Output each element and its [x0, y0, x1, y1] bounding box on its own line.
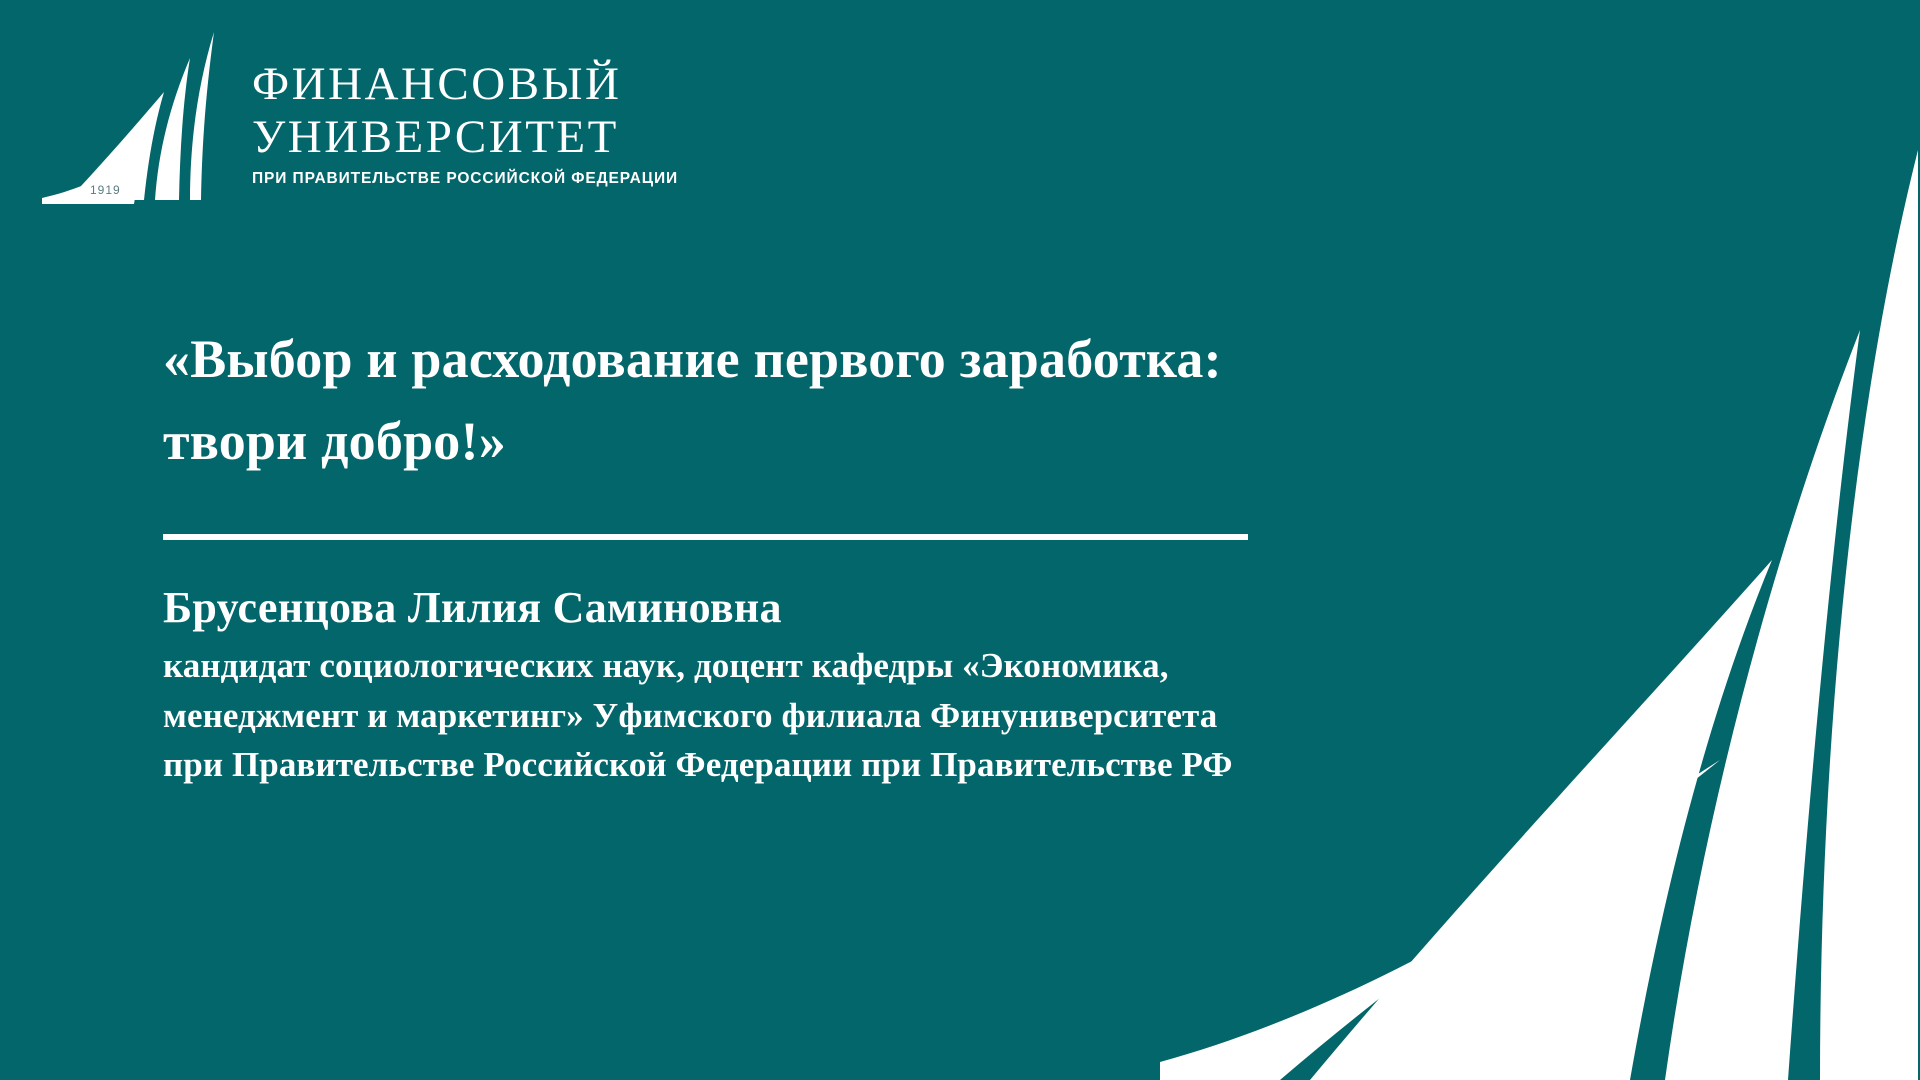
author-affiliation-line-2: менеджмент и маркетинг» Уфимского филиал… [163, 691, 1683, 741]
title-slide: 1919 ФИНАНСОВЫЙ УНИВЕРСИТЕТ ПРИ ПРАВИТЕЛ… [0, 0, 1920, 1080]
logo-sail-emblem-icon: 1919 [38, 22, 238, 212]
author-affiliation: кандидат социологических наук, доцент ка… [163, 641, 1683, 790]
slide-title: «Выбор и расходование первого заработка:… [163, 318, 1683, 482]
author-affiliation-line-1: кандидат социологических наук, доцент ка… [163, 641, 1683, 691]
title-divider-rule [163, 534, 1248, 540]
logo-tagline: ПРИ ПРАВИТЕЛЬСТВЕ РОССИЙСКОЙ ФЕДЕРАЦИИ [252, 170, 678, 188]
author-affiliation-line-3: при Правительстве Российской Федерации п… [163, 740, 1683, 790]
logo-name-line-1: ФИНАНСОВЫЙ [252, 58, 678, 111]
slide-title-line-2: твори добро!» [163, 400, 1683, 482]
author-name: Брусенцова Лилия Саминовна [163, 582, 1683, 635]
slide-content: «Выбор и расходование первого заработка:… [163, 318, 1683, 790]
university-logo: 1919 ФИНАНСОВЫЙ УНИВЕРСИТЕТ ПРИ ПРАВИТЕЛ… [38, 22, 658, 222]
slide-title-line-1: «Выбор и расходование первого заработка: [163, 318, 1683, 400]
logo-name-line-2: УНИВЕРСИТЕТ [252, 111, 678, 164]
logo-founded-year: 1919 [90, 183, 121, 197]
